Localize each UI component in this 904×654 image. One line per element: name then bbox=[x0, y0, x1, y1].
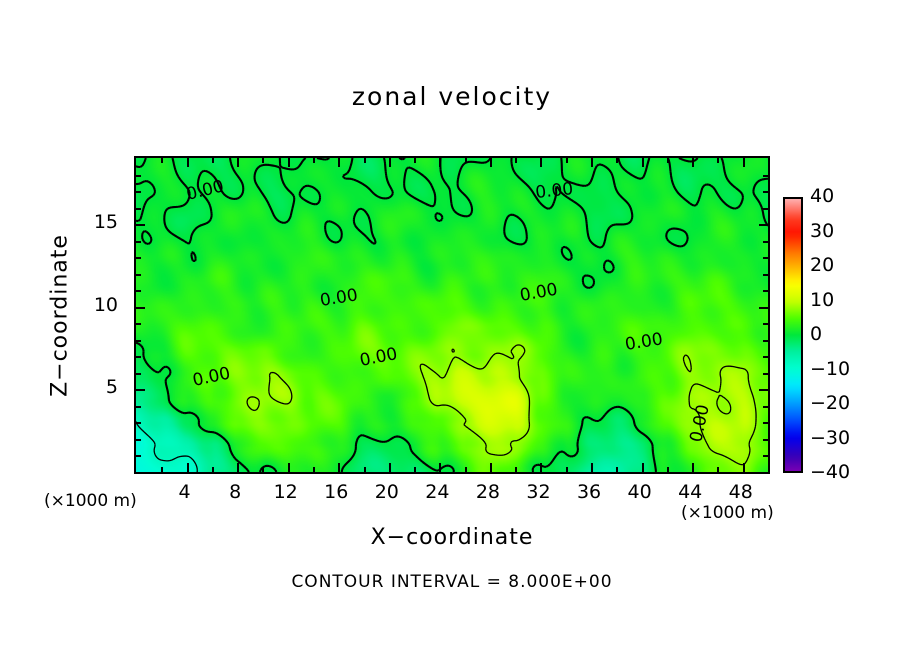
y-axis-tick bbox=[136, 290, 141, 292]
x-axis-tick bbox=[540, 463, 542, 472]
colorbar-tick-label: 30 bbox=[810, 220, 834, 242]
y-axis-tick bbox=[763, 323, 768, 325]
x-axis-tick bbox=[515, 467, 517, 472]
y-axis-tick bbox=[763, 290, 768, 292]
x-axis-tick bbox=[566, 467, 568, 472]
y-axis-tick bbox=[763, 241, 768, 243]
y-tick-label: 15 bbox=[72, 211, 118, 233]
colorbar-tick-label: −40 bbox=[810, 461, 850, 483]
page-title: zonal velocity bbox=[0, 82, 904, 111]
x-axis-tick bbox=[515, 158, 517, 163]
contour-label-group-6: 0.00 bbox=[622, 329, 667, 355]
colorbar-tick-label: −30 bbox=[810, 427, 850, 449]
x-axis-tick bbox=[616, 158, 618, 163]
x-tick-label: 48 bbox=[718, 481, 764, 503]
x-axis-tick bbox=[566, 158, 568, 163]
x-axis-tick bbox=[313, 467, 315, 472]
contour-label-group-2: 0.00 bbox=[317, 285, 362, 311]
y-axis-tick bbox=[136, 422, 141, 424]
x-axis-tick bbox=[288, 463, 290, 472]
x-axis-tick bbox=[338, 158, 340, 167]
y-axis-tick bbox=[763, 175, 768, 177]
x-axis-tick bbox=[616, 467, 618, 472]
y-axis-tick bbox=[763, 340, 768, 342]
y-axis-tick bbox=[763, 257, 768, 259]
colorbar-tick-label: −10 bbox=[810, 358, 850, 380]
contour-label: 0.00 bbox=[184, 176, 226, 205]
x-axis-tick bbox=[591, 158, 593, 167]
x-axis-tick bbox=[591, 463, 593, 472]
y-axis-tick bbox=[136, 455, 141, 457]
contour-label: 0.00 bbox=[319, 285, 360, 311]
contour-label-group-0: 0.00 bbox=[182, 176, 228, 206]
y-axis-tick bbox=[136, 224, 145, 226]
x-axis-tick bbox=[717, 158, 719, 163]
x-axis-tick bbox=[187, 463, 189, 472]
contour-label-group-3: 0.00 bbox=[516, 279, 561, 306]
y-axis-tick bbox=[763, 208, 768, 210]
y-axis-tick bbox=[759, 307, 768, 309]
y-axis-title: Z−coordinate bbox=[48, 216, 73, 416]
x-axis-tick bbox=[237, 463, 239, 472]
x-axis-tick bbox=[667, 158, 669, 163]
y-axis-tick bbox=[759, 389, 768, 391]
x-axis-tick bbox=[389, 463, 391, 472]
x-tick-label: 36 bbox=[566, 481, 612, 503]
x-axis-tick bbox=[490, 463, 492, 472]
x-axis-tick bbox=[667, 467, 669, 472]
y-axis-tick bbox=[136, 439, 141, 441]
y-axis-tick bbox=[763, 373, 768, 375]
x-axis-tick bbox=[465, 467, 467, 472]
y-axis-tick bbox=[759, 224, 768, 226]
x-axis-tick bbox=[414, 467, 416, 472]
x-axis-tick bbox=[692, 463, 694, 472]
y-axis-tick bbox=[136, 389, 145, 391]
contour-label: 0.00 bbox=[191, 363, 232, 390]
x-axis-tick bbox=[237, 158, 239, 167]
colorbar-tick-label: 20 bbox=[810, 254, 834, 276]
x-axis-tick bbox=[212, 467, 214, 472]
y-axis-tick bbox=[763, 439, 768, 441]
contour-label-group-5: 0.00 bbox=[189, 363, 234, 391]
x-axis-tick bbox=[288, 158, 290, 167]
x-tick-label: 12 bbox=[263, 481, 309, 503]
x-axis-tick bbox=[717, 467, 719, 472]
contour-plot-area[interactable]: 0.000.000.000.000.000.000.000.00 bbox=[134, 156, 770, 474]
contour-label-group-4: 0.00 bbox=[356, 344, 401, 372]
y-axis-tick bbox=[136, 257, 141, 259]
colorbar-tick-label: 10 bbox=[810, 289, 834, 311]
x-axis-tick bbox=[743, 158, 745, 167]
x-axis-tick bbox=[212, 158, 214, 163]
x-axis-tick bbox=[540, 158, 542, 167]
x-axis-tick bbox=[364, 467, 366, 472]
y-axis-tick bbox=[136, 406, 141, 408]
x-axis-tick bbox=[338, 463, 340, 472]
y-axis-tick bbox=[136, 307, 145, 309]
contour-label: 0.00 bbox=[534, 179, 574, 203]
x-tick-label: 4 bbox=[162, 481, 208, 503]
y-axis-units-label: (×1000 m) bbox=[44, 491, 137, 511]
y-axis-tick bbox=[136, 373, 141, 375]
x-tick-label: 20 bbox=[364, 481, 410, 503]
x-axis-tick bbox=[262, 158, 264, 163]
x-axis-tick bbox=[692, 158, 694, 167]
y-axis-tick bbox=[136, 191, 141, 193]
x-axis-tick bbox=[313, 158, 315, 163]
contour-zero-line bbox=[136, 158, 768, 472]
x-axis-units-label: (×1000 m) bbox=[681, 503, 774, 523]
x-tick-label: 8 bbox=[212, 481, 258, 503]
y-axis-tick bbox=[136, 175, 141, 177]
x-tick-label: 24 bbox=[414, 481, 460, 503]
y-axis-tick bbox=[763, 455, 768, 457]
y-axis-tick bbox=[136, 274, 141, 276]
y-tick-label: 10 bbox=[72, 294, 118, 316]
x-axis-tick bbox=[465, 158, 467, 163]
y-axis-tick bbox=[763, 422, 768, 424]
colorbar[interactable] bbox=[783, 197, 803, 473]
contour-lines-overlay: 0.000.000.000.000.000.000.000.00 bbox=[136, 158, 768, 472]
x-tick-label: 28 bbox=[465, 481, 511, 503]
y-axis-tick bbox=[763, 191, 768, 193]
contour-label: 0.00 bbox=[686, 403, 713, 444]
y-axis-tick bbox=[136, 356, 141, 358]
x-tick-label: 44 bbox=[667, 481, 713, 503]
x-tick-label: 16 bbox=[313, 481, 359, 503]
colorbar-tick-label: 40 bbox=[810, 185, 834, 207]
x-axis-tick bbox=[490, 158, 492, 167]
y-axis-tick bbox=[763, 274, 768, 276]
x-axis-tick bbox=[642, 158, 644, 167]
y-axis-tick bbox=[136, 340, 141, 342]
x-axis-tick bbox=[439, 158, 441, 167]
contour-interval-note: CONTOUR INTERVAL = 8.000E+00 bbox=[0, 572, 904, 592]
x-axis-tick bbox=[642, 463, 644, 472]
contour-label: 0.00 bbox=[358, 344, 399, 371]
contour-positive-line bbox=[247, 345, 756, 465]
x-axis-tick bbox=[743, 463, 745, 472]
colorbar-gradient bbox=[785, 199, 801, 471]
contour-label: 0.00 bbox=[518, 280, 559, 306]
x-axis-tick bbox=[161, 467, 163, 472]
x-axis-tick bbox=[364, 158, 366, 163]
x-tick-label: 32 bbox=[515, 481, 561, 503]
x-tick-label: 40 bbox=[617, 481, 663, 503]
x-axis-tick bbox=[389, 158, 391, 167]
x-axis-title: X−coordinate bbox=[0, 525, 904, 550]
x-axis-tick bbox=[439, 463, 441, 472]
x-axis-tick bbox=[414, 158, 416, 163]
y-axis-tick bbox=[136, 208, 141, 210]
colorbar-tick-label: −20 bbox=[810, 392, 850, 414]
y-axis-tick bbox=[136, 323, 141, 325]
x-axis-tick bbox=[161, 158, 163, 163]
y-axis-tick bbox=[763, 356, 768, 358]
contour-label: 0.00 bbox=[624, 329, 665, 355]
y-tick-label: 5 bbox=[72, 376, 118, 398]
x-axis-tick bbox=[187, 158, 189, 167]
y-axis-tick bbox=[763, 406, 768, 408]
x-axis-tick bbox=[262, 467, 264, 472]
colorbar-tick-label: 0 bbox=[810, 323, 822, 345]
y-axis-tick bbox=[136, 241, 141, 243]
